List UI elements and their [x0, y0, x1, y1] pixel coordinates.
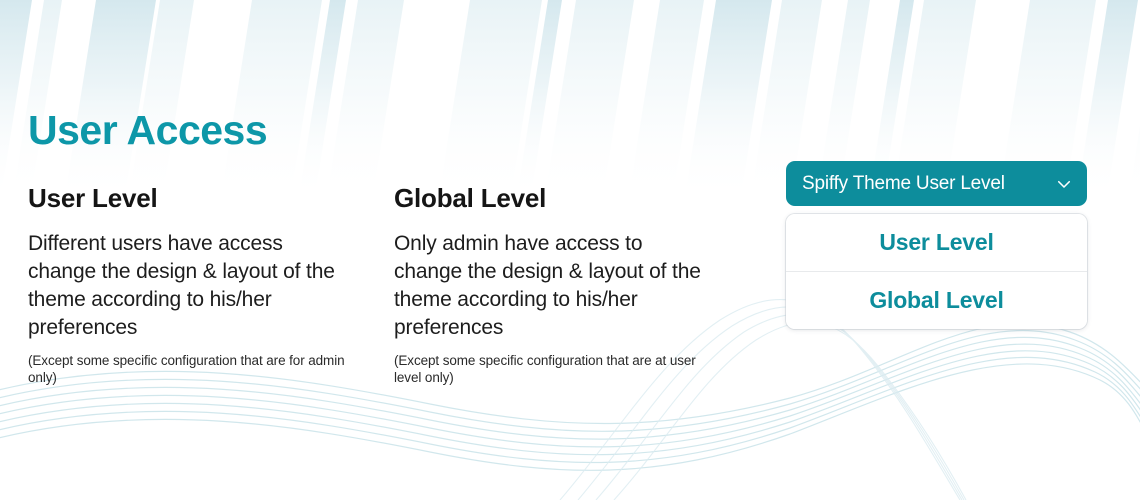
dropdown-toggle-button[interactable]: Spiffy Theme User Level	[786, 161, 1087, 206]
column-body-global-level: Only admin have access to change the des…	[394, 230, 712, 342]
column-global-level: Global Level Only admin have access to c…	[394, 184, 734, 387]
dropdown-selected-label: Spiffy Theme User Level	[802, 174, 1055, 193]
column-heading-user-level: User Level	[28, 184, 368, 214]
dropdown-option-user-level[interactable]: User Level	[786, 214, 1087, 271]
user-level-dropdown: Spiffy Theme User Level User Level Globa…	[786, 161, 1087, 329]
column-note-global-level: (Except some specific configuration that…	[394, 352, 716, 388]
dropdown-menu: User Level Global Level	[786, 214, 1087, 329]
column-note-user-level: (Except some specific configuration that…	[28, 352, 350, 388]
column-body-user-level: Different users have access change the d…	[28, 230, 346, 342]
column-user-level: User Level Different users have access c…	[28, 184, 368, 387]
dropdown-option-global-level[interactable]: Global Level	[786, 271, 1087, 329]
column-heading-global-level: Global Level	[394, 184, 734, 214]
slide-canvas: User Access User Level Different users h…	[0, 0, 1140, 500]
page-title: User Access	[28, 108, 267, 153]
chevron-down-icon	[1055, 175, 1073, 193]
